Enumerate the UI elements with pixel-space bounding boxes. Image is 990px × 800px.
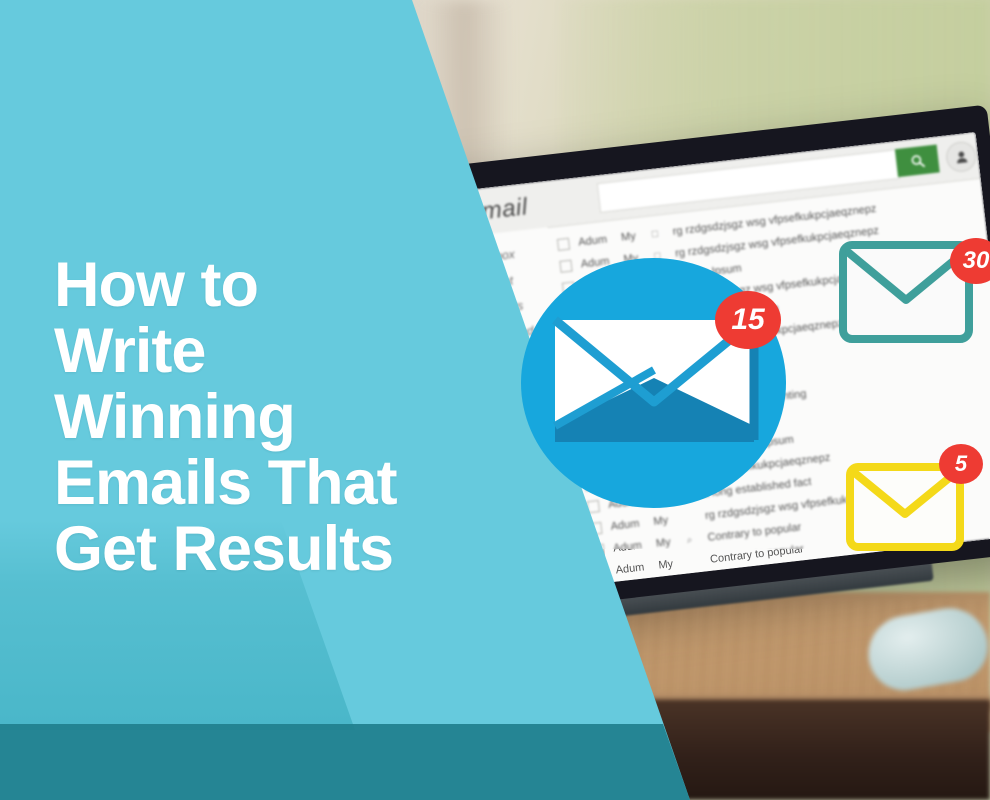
envelope-badge-30: 30 bbox=[838, 240, 974, 344]
hero-badge-count: 15 bbox=[715, 291, 781, 349]
envelope-badge-5: 5 bbox=[845, 462, 965, 552]
headline-line-5: Get Results bbox=[54, 516, 474, 582]
hero-envelope-icon: 15 bbox=[521, 258, 786, 508]
desk-front-edge bbox=[0, 700, 990, 800]
headline-line-1: How to bbox=[54, 252, 474, 318]
badge-count: 5 bbox=[939, 444, 983, 484]
headline-line-4: Emails That bbox=[54, 450, 474, 516]
page-title: How to Write Winning Emails That Get Res… bbox=[54, 252, 474, 582]
badge-count: 10 bbox=[432, 212, 466, 242]
badge-count: 15 bbox=[486, 481, 516, 507]
email-banner-graphic: Email bbox=[0, 0, 990, 800]
headline-line-2: Write bbox=[54, 318, 474, 384]
headline-line-3: Winning bbox=[54, 384, 474, 450]
